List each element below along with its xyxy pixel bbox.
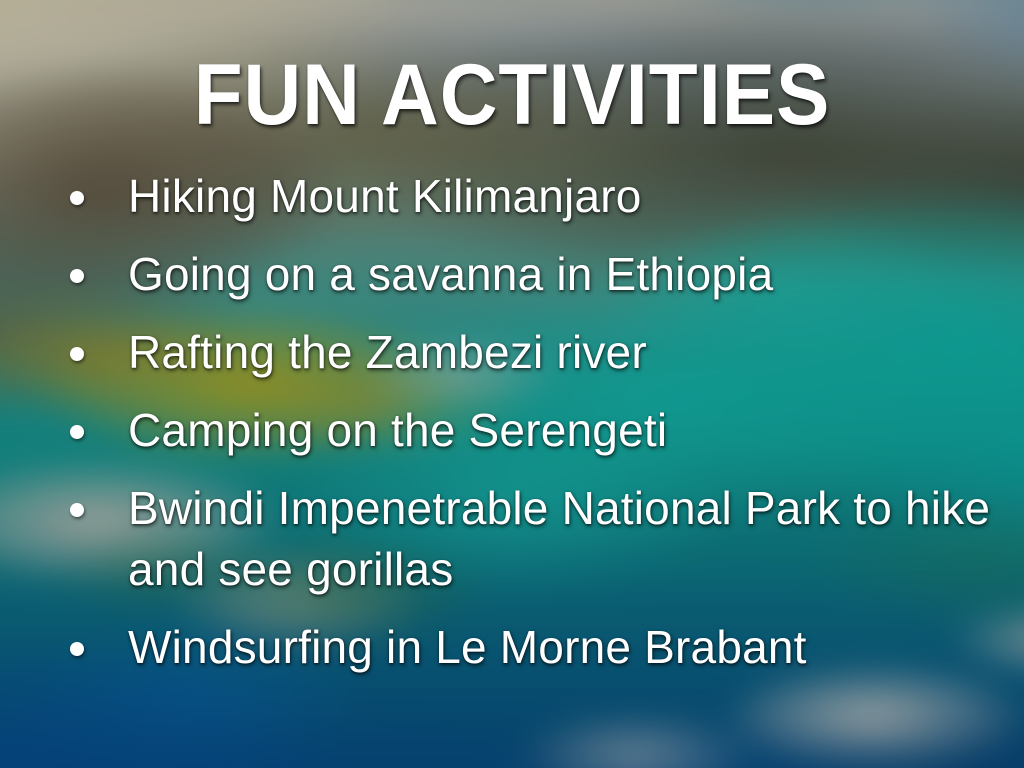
presentation-slide: FUN ACTIVITIES Hiking Mount Kilimanjaro … <box>0 0 1024 768</box>
list-item-label: Windsurfing in Le Morne Brabant <box>128 617 994 678</box>
bullet-dot-icon <box>70 425 84 439</box>
bullet-dot-icon <box>70 642 84 656</box>
list-item-label: Bwindi Impenetrable National Park to hik… <box>128 478 994 600</box>
list-item-label: Going on a savanna in Ethiopia <box>128 244 994 305</box>
list-item: Rafting the Zambezi river <box>58 322 994 383</box>
list-item: Hiking Mount Kilimanjaro <box>58 166 994 227</box>
list-item: Camping on the Serengeti <box>58 400 994 461</box>
bullet-dot-icon <box>70 503 84 517</box>
list-item: Windsurfing in Le Morne Brabant <box>58 617 994 678</box>
list-item-label: Hiking Mount Kilimanjaro <box>128 166 994 227</box>
list-item-label: Camping on the Serengeti <box>128 400 994 461</box>
bullet-dot-icon <box>70 269 84 283</box>
slide-title: FUN ACTIVITIES <box>36 52 988 138</box>
activities-bullet-list: Hiking Mount Kilimanjaro Going on a sava… <box>58 166 994 678</box>
slide-content: FUN ACTIVITIES Hiking Mount Kilimanjaro … <box>0 0 1024 768</box>
bullet-dot-icon <box>70 347 84 361</box>
bullet-dot-icon <box>70 191 84 205</box>
list-item: Bwindi Impenetrable National Park to hik… <box>58 478 994 600</box>
list-item-label: Rafting the Zambezi river <box>128 322 994 383</box>
list-item: Going on a savanna in Ethiopia <box>58 244 994 305</box>
